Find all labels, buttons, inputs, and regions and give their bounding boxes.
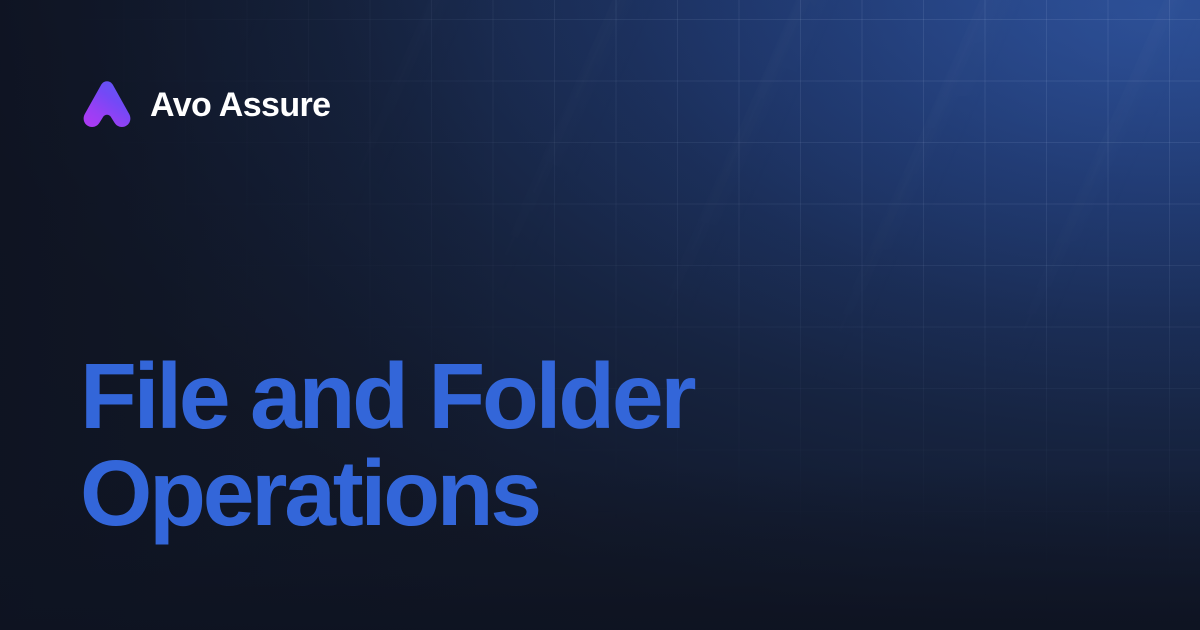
brand-name: Avo Assure — [150, 88, 330, 122]
og-banner: Avo Assure File and Folder Operations — [0, 0, 1200, 630]
avo-chevron-logo-icon — [78, 76, 136, 134]
page-title: File and Folder Operations — [80, 348, 1080, 542]
brand-lockup: Avo Assure — [78, 76, 330, 134]
banner-content: Avo Assure File and Folder Operations — [0, 0, 1200, 630]
